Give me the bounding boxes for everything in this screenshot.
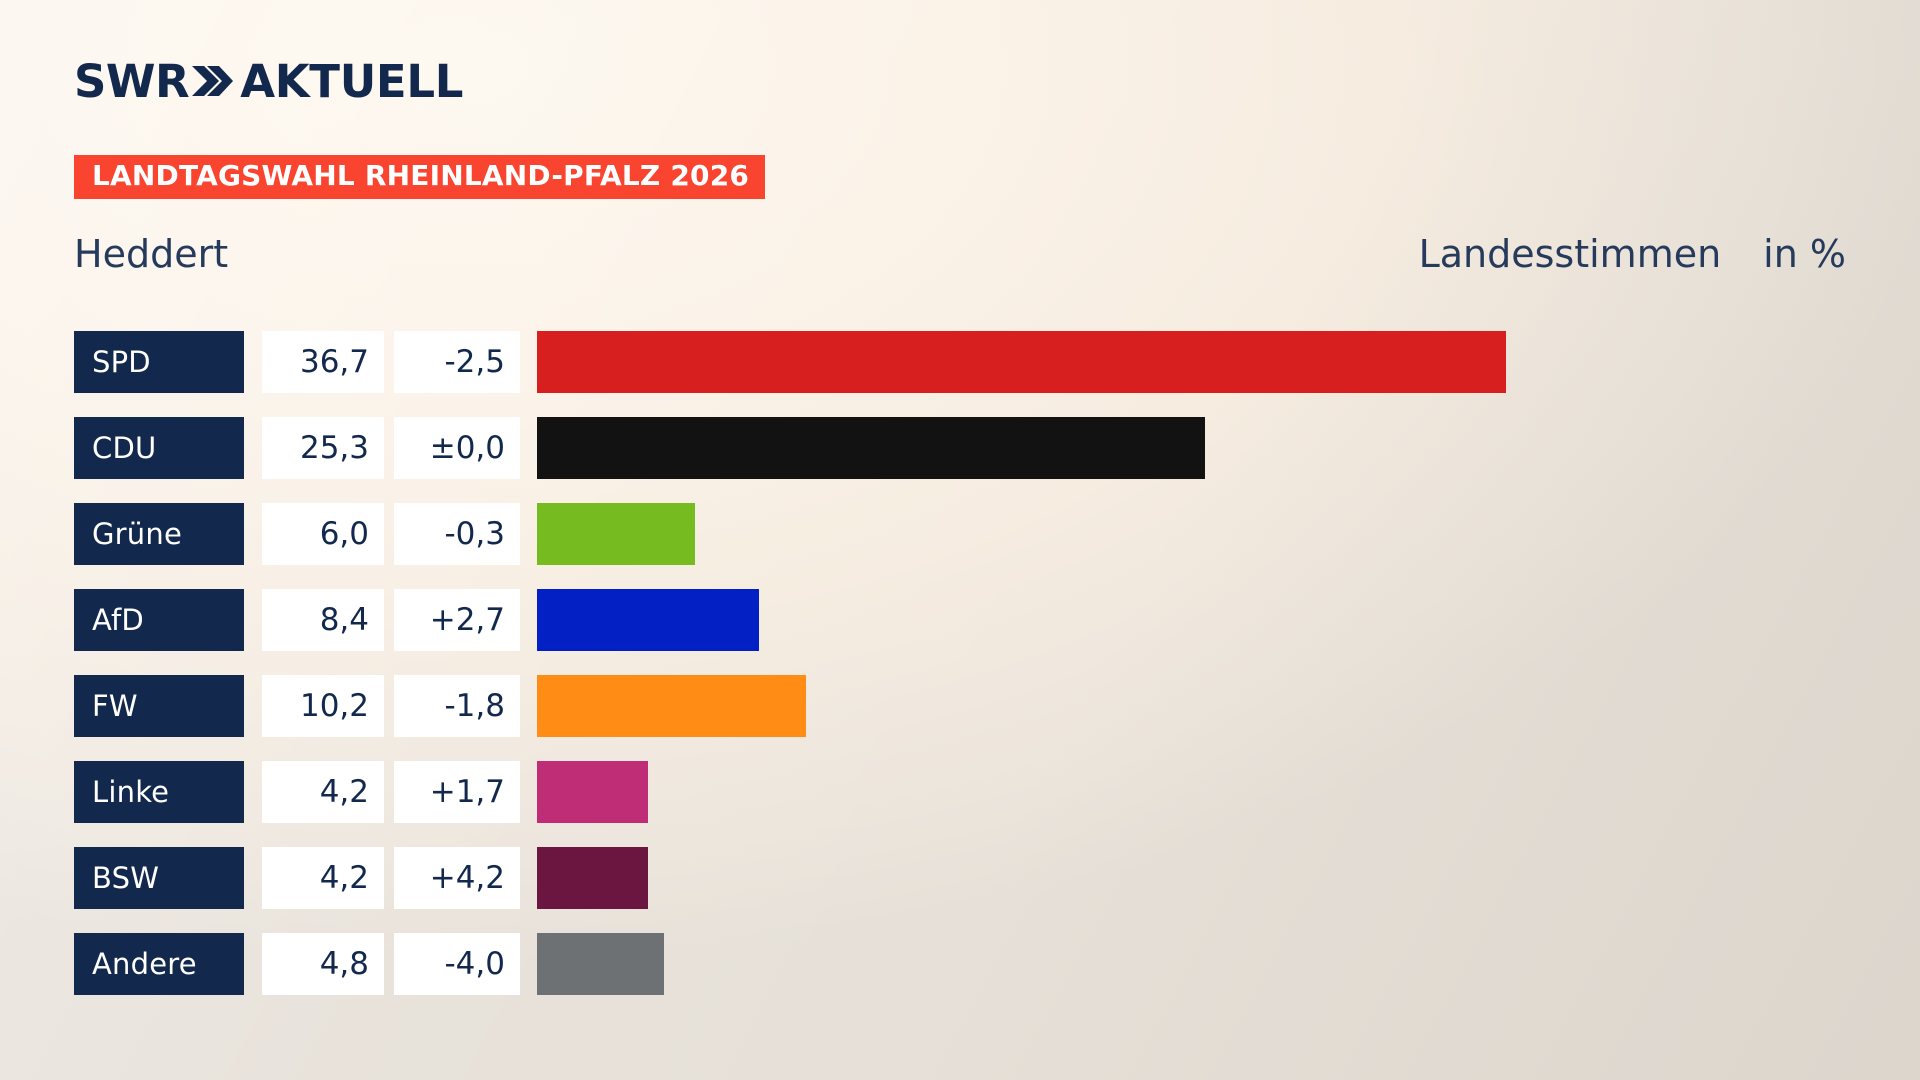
party-change: -4,0 — [394, 933, 520, 995]
double-chevron-right-icon — [191, 64, 233, 98]
table-row: SPD36,7-2,5 — [74, 331, 1846, 393]
bar-track — [537, 331, 1846, 393]
table-row: Grüne6,0-0,3 — [74, 503, 1846, 565]
table-row: BSW4,2+4,2 — [74, 847, 1846, 909]
election-banner: LANDTAGSWAHL RHEINLAND-PFALZ 2026 — [74, 155, 765, 199]
party-percentage: 6,0 — [262, 503, 384, 565]
unit-label: in % — [1763, 232, 1846, 276]
party-label: AfD — [74, 589, 244, 651]
party-bar — [537, 761, 648, 823]
bar-track — [537, 847, 1846, 909]
party-bar — [537, 589, 759, 651]
swr-aktuell-logo: SWR AKTUELL — [74, 54, 463, 108]
party-label: BSW — [74, 847, 244, 909]
party-label: FW — [74, 675, 244, 737]
table-row: Linke4,2+1,7 — [74, 761, 1846, 823]
party-percentage: 36,7 — [262, 331, 384, 393]
party-label: Andere — [74, 933, 244, 995]
party-bar — [537, 675, 806, 737]
brand-swr-text: SWR — [74, 59, 189, 104]
party-bar — [537, 417, 1205, 479]
party-change: -2,5 — [394, 331, 520, 393]
vote-type-label: Landesstimmen — [1419, 232, 1722, 276]
party-change: ±0,0 — [394, 417, 520, 479]
party-bar — [537, 847, 648, 909]
party-label: Grüne — [74, 503, 244, 565]
results-bar-chart: SPD36,7-2,5CDU25,3±0,0Grüne6,0-0,3AfD8,4… — [74, 331, 1846, 995]
party-change: +2,7 — [394, 589, 520, 651]
party-percentage: 10,2 — [262, 675, 384, 737]
party-change: -0,3 — [394, 503, 520, 565]
party-change: +4,2 — [394, 847, 520, 909]
location-name: Heddert — [74, 232, 228, 276]
party-percentage: 4,2 — [262, 761, 384, 823]
bar-track — [537, 589, 1846, 651]
party-bar — [537, 331, 1506, 393]
party-percentage: 4,2 — [262, 847, 384, 909]
party-label: Linke — [74, 761, 244, 823]
table-row: Andere4,8-4,0 — [74, 933, 1846, 995]
party-percentage: 8,4 — [262, 589, 384, 651]
party-percentage: 4,8 — [262, 933, 384, 995]
party-label: CDU — [74, 417, 244, 479]
party-percentage: 25,3 — [262, 417, 384, 479]
party-change: +1,7 — [394, 761, 520, 823]
bar-track — [537, 503, 1846, 565]
election-result-graphic: SWR AKTUELL LANDTAGSWAHL RHEINLAND-PFALZ… — [0, 0, 1920, 1080]
bar-track — [537, 417, 1846, 479]
subheader: Heddert Landesstimmen in % — [74, 225, 1846, 283]
bar-track — [537, 675, 1846, 737]
party-bar — [537, 503, 695, 565]
party-label: SPD — [74, 331, 244, 393]
table-row: AfD8,4+2,7 — [74, 589, 1846, 651]
party-change: -1,8 — [394, 675, 520, 737]
table-row: CDU25,3±0,0 — [74, 417, 1846, 479]
party-bar — [537, 933, 664, 995]
brand-aktuell-text: AKTUELL — [240, 59, 463, 104]
bar-track — [537, 761, 1846, 823]
table-row: FW10,2-1,8 — [74, 675, 1846, 737]
bar-track — [537, 933, 1846, 995]
